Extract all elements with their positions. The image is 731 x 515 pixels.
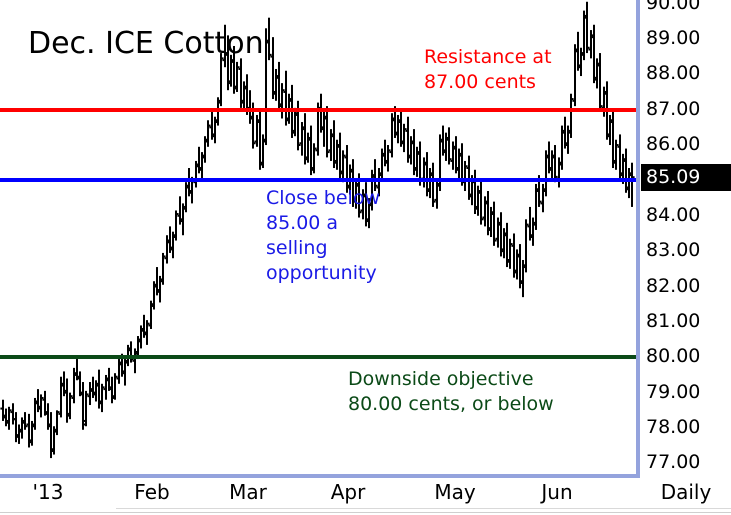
- price-plot-area[interactable]: Dec. ICE Cotton Resistance at 87.00 cent…: [0, 0, 636, 474]
- support-line: [0, 178, 636, 182]
- axis-horizontal-border: [0, 474, 640, 478]
- chart-screenshot: Dec. ICE Cotton Resistance at 87.00 cent…: [0, 0, 731, 515]
- price-tick-77-00: 77.00: [646, 451, 700, 473]
- window-bottom-divider: [0, 512, 731, 513]
- time-tick-may: May: [434, 480, 475, 504]
- price-tick-86-00: 86.00: [646, 133, 700, 155]
- interval-label[interactable]: Daily: [661, 480, 712, 504]
- annotation-support: Close below 85.00 a selling opportunity: [266, 186, 380, 286]
- price-tick-80-00: 80.00: [646, 345, 700, 367]
- annotation-objective: Downside objective 80.00 cents, or below: [348, 367, 554, 417]
- price-tick-87-00: 87.00: [646, 98, 700, 120]
- price-tick-89-00: 89.00: [646, 27, 700, 49]
- price-tick-83-00: 83.00: [646, 239, 700, 261]
- last-price-value: 85.09: [646, 166, 700, 188]
- chart-title: Dec. ICE Cotton: [28, 26, 264, 61]
- objective-line: [0, 355, 636, 359]
- last-price-badge: 85.09: [641, 164, 731, 191]
- price-tick-84-00: 84.00: [646, 204, 700, 226]
- time-tick-13: '13: [33, 480, 64, 504]
- price-tick-82-00: 82.00: [646, 275, 700, 297]
- annotation-resistance: Resistance at 87.00 cents: [424, 45, 552, 95]
- price-tick-79-00: 79.00: [646, 381, 700, 403]
- time-tick-apr: Apr: [331, 480, 366, 504]
- time-tick-feb: Feb: [134, 480, 169, 504]
- price-tick-90-00: 90.00: [646, 0, 700, 14]
- price-tick-81-00: 81.00: [646, 310, 700, 332]
- price-tick-78-00: 78.00: [646, 416, 700, 438]
- price-axis[interactable]: 90.0089.0088.0087.0086.0085.0084.0083.00…: [640, 0, 731, 474]
- time-tick-jun: Jun: [541, 480, 572, 504]
- time-tick-mar: Mar: [229, 480, 267, 504]
- resistance-line: [0, 108, 636, 112]
- time-axis[interactable]: '13FebMarAprMayJun: [0, 480, 731, 512]
- price-tick-88-00: 88.00: [646, 62, 700, 84]
